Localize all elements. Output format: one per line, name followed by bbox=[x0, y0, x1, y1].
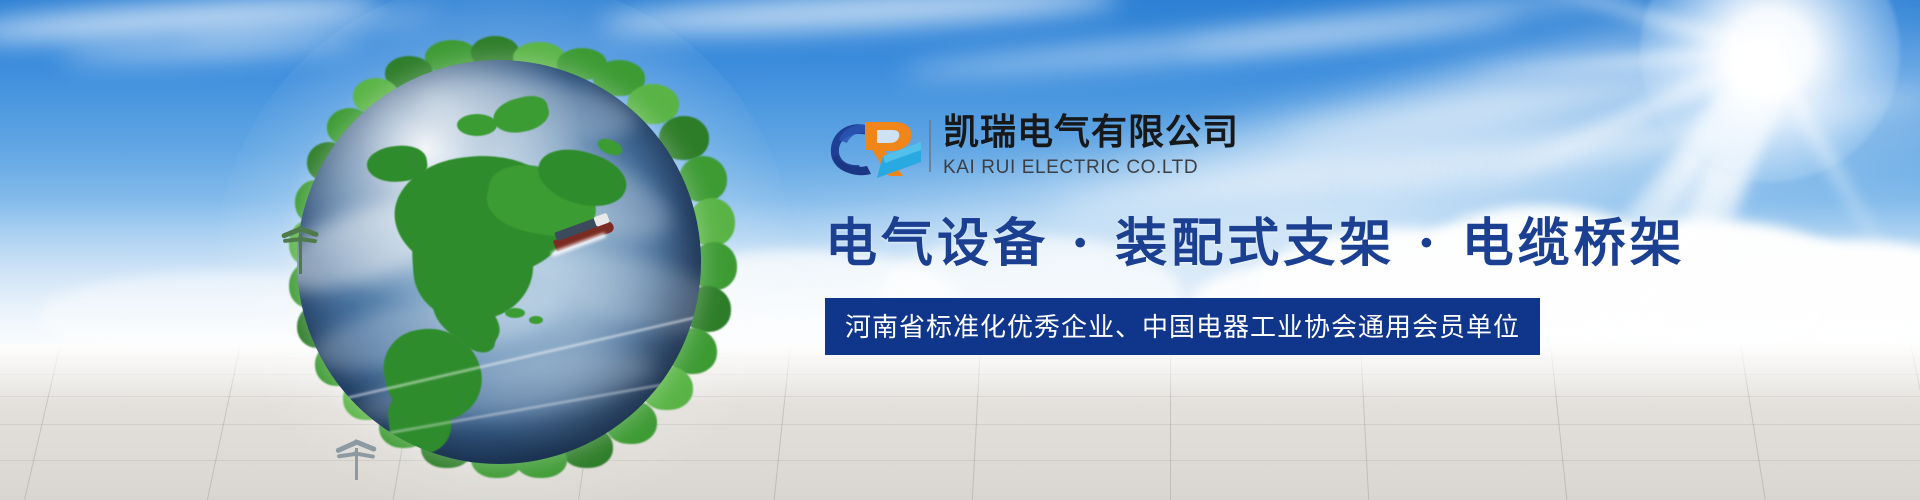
company-name-block: 凯瑞电气有限公司 KAI RUI ELECTRIC CO.LTD bbox=[943, 112, 1239, 180]
earth-globe bbox=[275, 38, 735, 478]
banner-headline: 电气设备 · 装配式支架 · 电缆桥架 bbox=[825, 214, 1525, 274]
palm-tree-icon-2 bbox=[335, 442, 381, 482]
company-name-en: KAI RUI ELECTRIC CO.LTD bbox=[943, 156, 1239, 180]
globe-sphere bbox=[297, 60, 701, 464]
banner-content: 凯瑞电气有限公司 KAI RUI ELECTRIC CO.LTD 电气设备 · … bbox=[825, 112, 1525, 355]
company-name-cn: 凯瑞电气有限公司 bbox=[943, 112, 1239, 154]
company-logo-row[interactable]: 凯瑞电气有限公司 KAI RUI ELECTRIC CO.LTD bbox=[825, 112, 1525, 188]
palm-tree-icon bbox=[281, 226, 321, 274]
cr-monogram-logo-icon bbox=[825, 116, 923, 180]
credentials-badge: 河南省标准化优秀企业、中国电器工业协会通用会员单位 bbox=[825, 298, 1540, 355]
hero-banner: 凯瑞电气有限公司 KAI RUI ELECTRIC CO.LTD 电气设备 · … bbox=[0, 0, 1920, 500]
logo-divider bbox=[929, 120, 931, 172]
